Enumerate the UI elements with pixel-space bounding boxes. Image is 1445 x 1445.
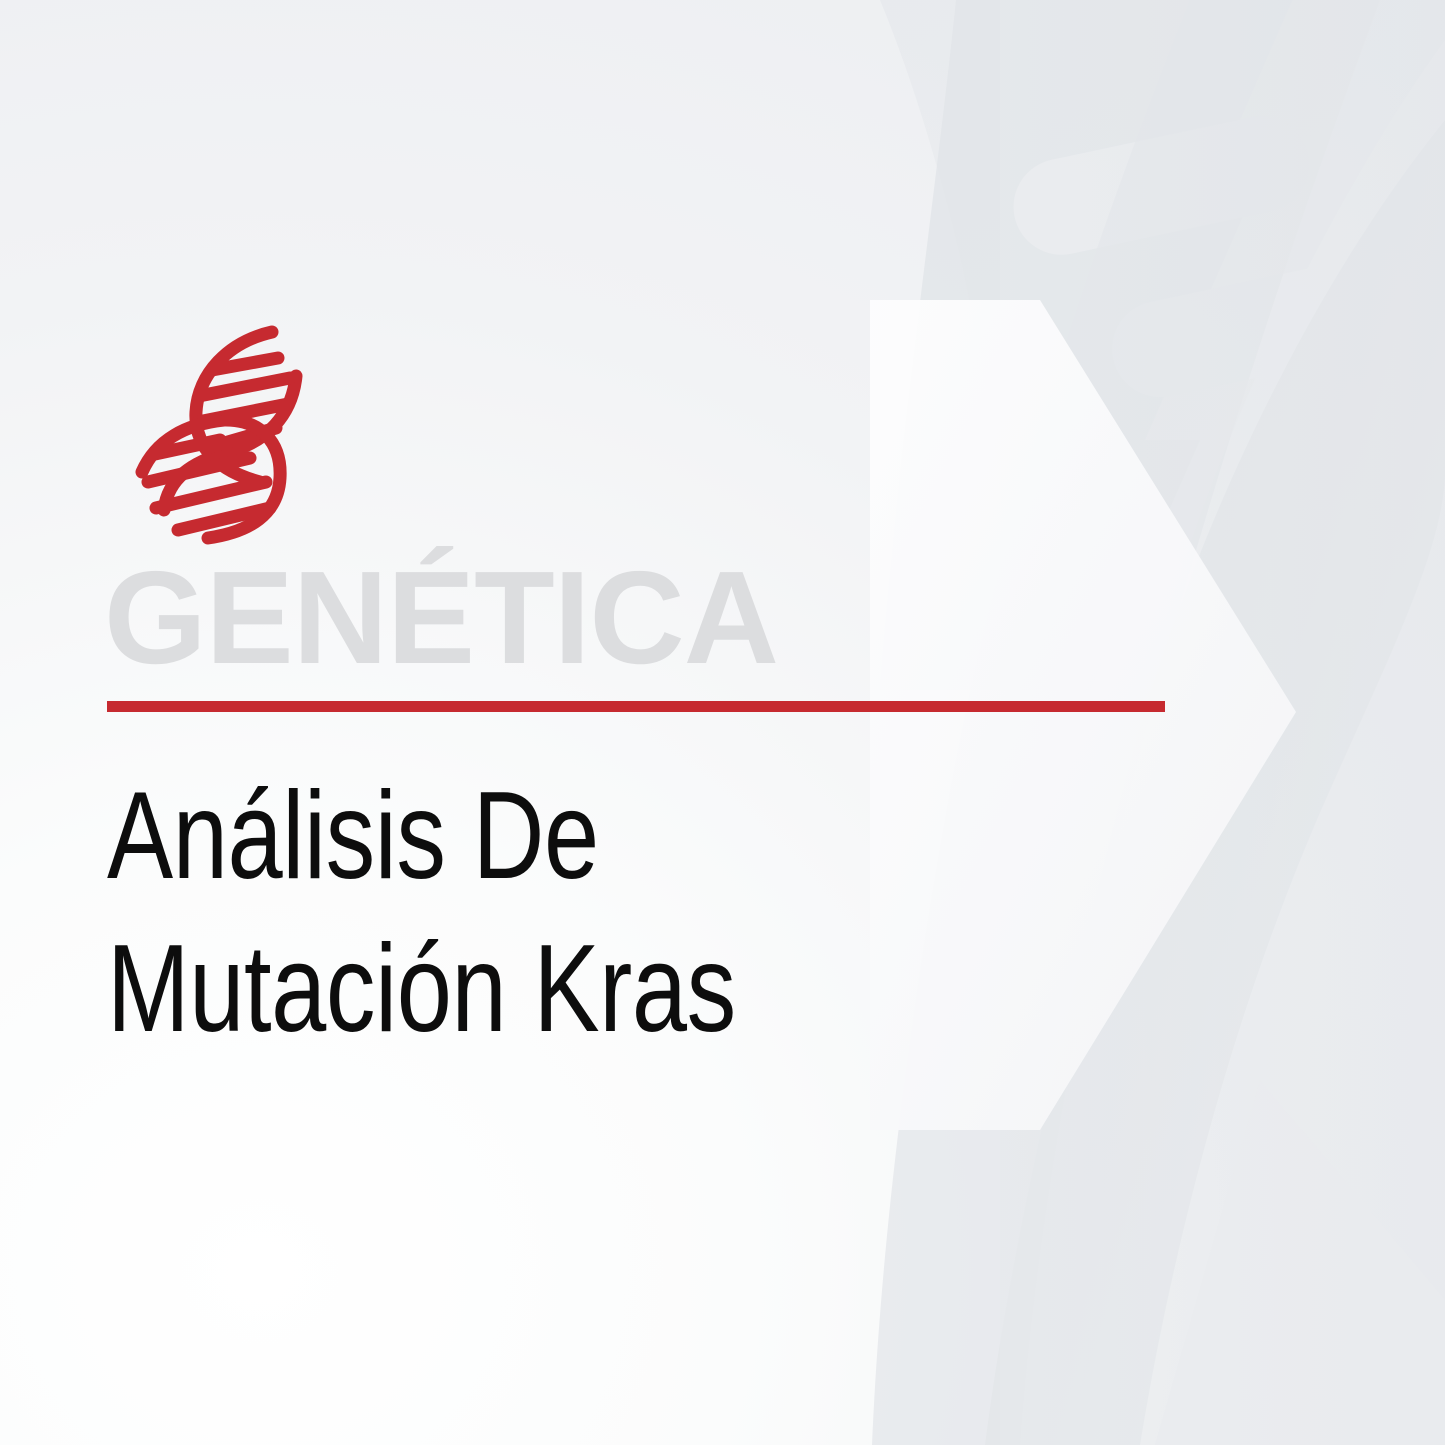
title-line-2: Mutación Kras <box>107 913 907 1066</box>
page-title: Análisis De Mutación Kras <box>107 760 907 1066</box>
genetics-title-card: GENÉTICA Análisis De Mutación Kras <box>0 0 1445 1445</box>
category-label: GENÉTICA <box>104 552 778 684</box>
red-divider-line <box>107 701 1165 712</box>
dna-helix-icon <box>100 312 340 552</box>
title-line-1: Análisis De <box>107 760 907 913</box>
card-content: GENÉTICA Análisis De Mutación Kras <box>0 0 1445 1445</box>
